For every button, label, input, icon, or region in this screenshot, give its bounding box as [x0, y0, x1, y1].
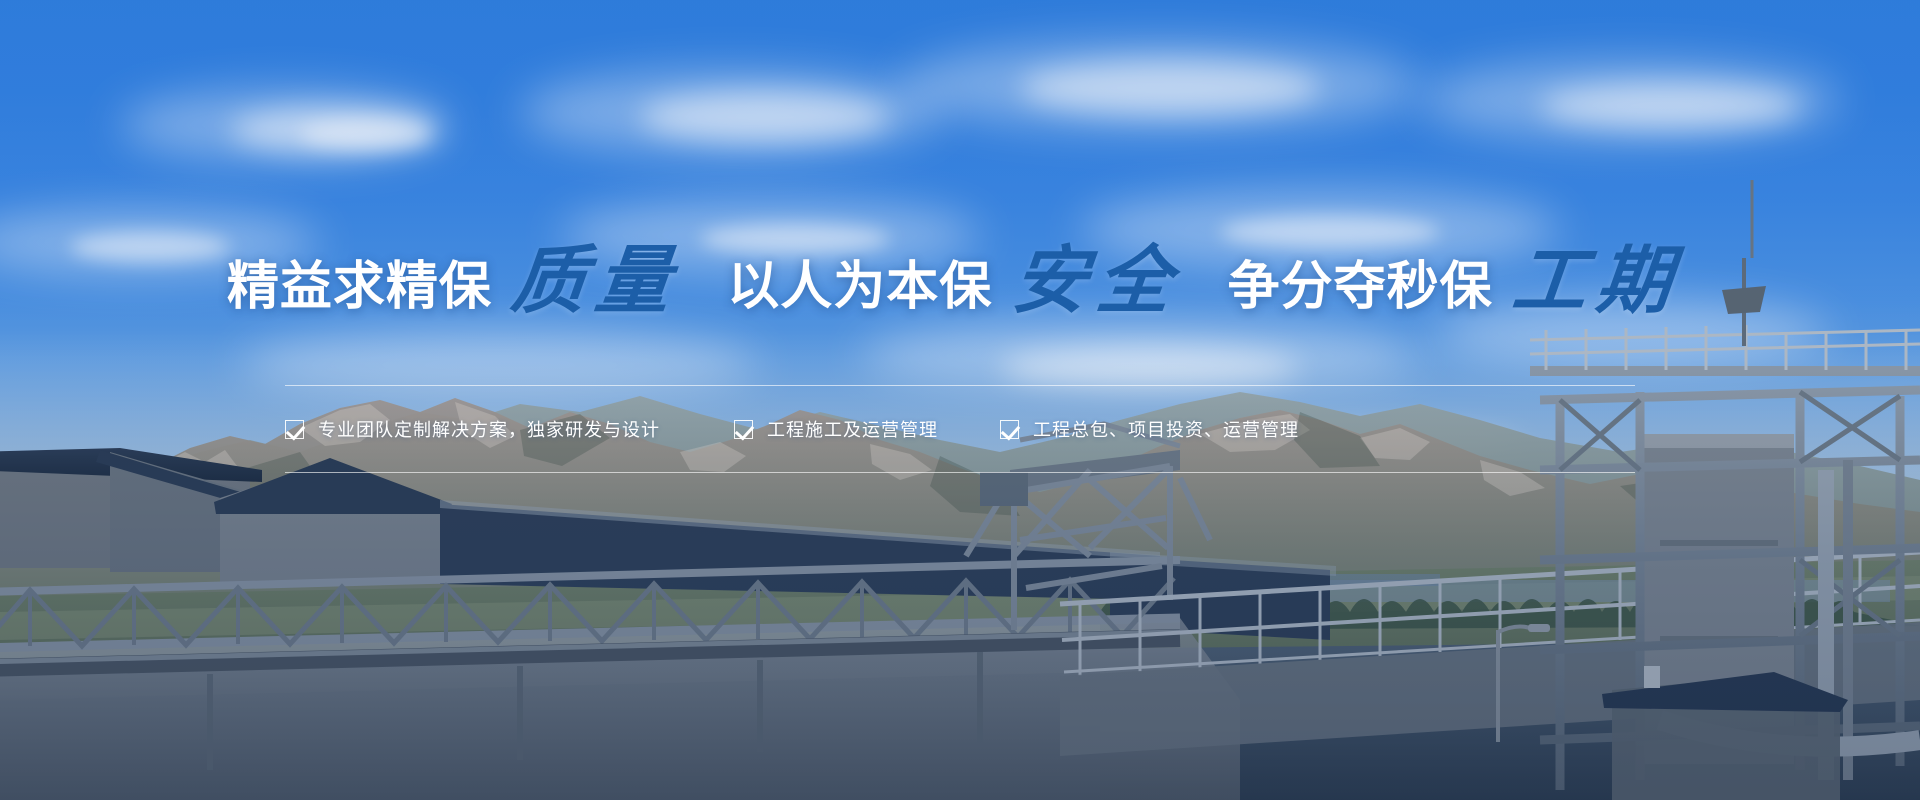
feature-list: 专业团队定制解决方案，独家研发与设计 工程施工及运营管理 工程总包、项目投资、运… [285, 398, 1635, 460]
check-box-icon [734, 420, 753, 439]
check-box-icon [285, 420, 304, 439]
headline-segment-6: 工期 [1509, 244, 1685, 318]
feature-item-1: 专业团队定制解决方案，独家研发与设计 [285, 416, 660, 442]
feature-item-2: 工程施工及运营管理 [734, 416, 938, 442]
headline-segment-5: 争分夺秒保 [1228, 261, 1493, 313]
feature-label: 工程总包、项目投资、运营管理 [1033, 416, 1299, 442]
divider-bottom [285, 472, 1635, 473]
hero-banner: 精益求精保 质量 以人为本保 安全 争分夺秒保 工期 专业团队定制解决方案，独家… [0, 0, 1920, 800]
headline-slogan: 精益求精保 质量 以人为本保 安全 争分夺秒保 工期 [0, 250, 1920, 324]
feature-label: 专业团队定制解决方案，独家研发与设计 [318, 416, 660, 442]
divider-top [285, 385, 1635, 386]
check-box-icon [1000, 420, 1019, 439]
headline-segment-3: 以人为本保 [727, 261, 992, 313]
feature-label: 工程施工及运营管理 [767, 416, 938, 442]
feature-item-3: 工程总包、项目投资、运营管理 [1000, 416, 1299, 442]
headline-segment-4: 安全 [1009, 244, 1185, 318]
headline-segment-1: 精益求精保 [227, 261, 492, 313]
headline-segment-2: 质量 [508, 244, 684, 318]
text-overlay: 精益求精保 质量 以人为本保 安全 争分夺秒保 工期 专业团队定制解决方案，独家… [0, 0, 1920, 800]
